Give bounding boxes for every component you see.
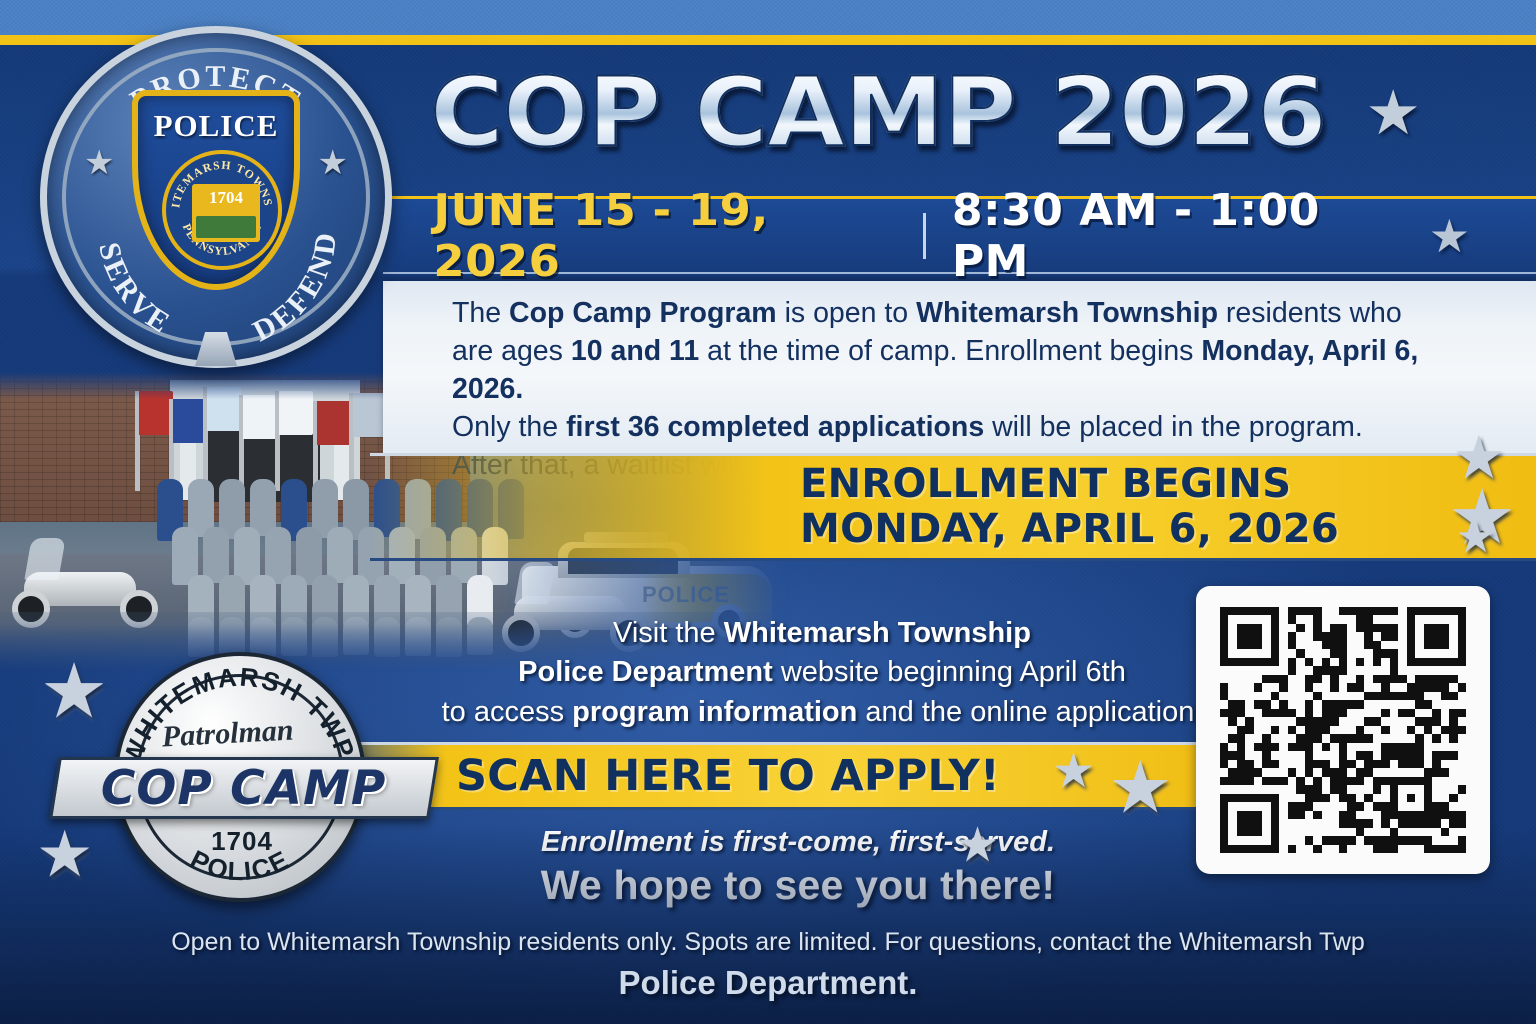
star-icon-scan-large: ★ xyxy=(1108,752,1173,824)
qr-code-matrix xyxy=(1220,607,1466,853)
enrollment-line-1: ENROLLMENT BEGINS xyxy=(800,462,1339,507)
star-icon-scan-small: ★ xyxy=(1052,748,1095,796)
visit-line-1: Visit the Whitemarsh Township xyxy=(420,614,1224,653)
desc-text: at the time of camp. Enrollment begins xyxy=(699,335,1201,367)
star-icon-left-lower: ★ xyxy=(36,822,93,886)
desc-text: residents who xyxy=(1218,297,1402,329)
qr-code[interactable] xyxy=(1196,586,1490,874)
visit-strong: program information xyxy=(572,696,857,728)
badge-police-label: POLICE xyxy=(138,108,294,144)
enrollment-line-2: MONDAY, APRIL 6, 2026 xyxy=(800,507,1339,552)
desc-strong: 10 and 11 xyxy=(571,335,699,367)
desc-text: is open to xyxy=(777,297,916,329)
camp-dates: JUNE 15 - 19, 2026 xyxy=(433,185,901,287)
camp-times: 8:30 AM - 1:00 PM xyxy=(952,185,1403,287)
desc-strong: Cop Camp Program xyxy=(509,297,777,329)
cop-camp-emblem: WHITEMARSH TWP. POLICE Patrolman 1704 CO… xyxy=(92,652,392,902)
desc-strong: first 36 completed applications xyxy=(566,411,984,443)
township-seal: WHITEMARSH TOWNSHIP PENNSYLVANIA 1704 xyxy=(162,150,282,270)
visit-line-3: to access program information and the on… xyxy=(420,693,1224,732)
desc-text: Only the xyxy=(452,411,566,443)
footer-line-1: Open to Whitemarsh Township residents on… xyxy=(0,928,1536,957)
page-title-text: COP CAMP 2026 xyxy=(430,66,1326,161)
title-star-icon: ★ xyxy=(1365,82,1420,144)
emblem-cop-camp-banner: COP CAMP xyxy=(49,757,439,819)
desc-text: are ages xyxy=(452,335,571,367)
visit-text: website beginning April 6th xyxy=(773,656,1126,688)
visit-text: to access xyxy=(442,696,573,728)
star-icon-fcfs: ★ xyxy=(956,822,999,870)
enrollment-begins-banner: ENROLLMENT BEGINS MONDAY, APRIL 6, 2026 xyxy=(370,453,1536,561)
visit-line-2: Police Department website beginning Apri… xyxy=(420,653,1224,692)
visit-strong: Police Department xyxy=(518,656,773,688)
description-line-2: are ages 10 and 11 at the time of camp. … xyxy=(452,333,1442,409)
description-line-1: The Cop Camp Program is open to Whitemar… xyxy=(452,295,1442,333)
badge-year: 1704 xyxy=(192,188,260,208)
scan-here-banner: SCAN HERE TO APPLY! xyxy=(338,742,1236,810)
visit-strong: Whitemarsh Township xyxy=(724,617,1031,649)
star-icon-left-upper: ★ xyxy=(40,654,108,730)
page-title: COP CAMP 2026 ★ xyxy=(430,58,1420,168)
emblem-year: 1704 xyxy=(114,826,370,857)
visit-website-text: Visit the Whitemarsh Township Police Dep… xyxy=(420,614,1224,732)
badge-star-right-icon: ★ xyxy=(318,146,348,180)
desc-strong: Whitemarsh Township xyxy=(916,297,1218,329)
emblem-cop-camp-label: COP CAMP xyxy=(101,761,386,816)
cop-camp-flyer: POLICE COP CAMP 2026 ★ JUNE 15 - 19, 202… xyxy=(0,0,1536,1024)
desc-text: The xyxy=(452,297,509,329)
datebar-star-icon: ★ xyxy=(1429,209,1470,263)
visit-text: and the online application. xyxy=(857,696,1202,728)
date-time-banner: JUNE 15 - 19, 2026 8:30 AM - 1:00 PM ★ xyxy=(383,196,1536,274)
description-line-3: Only the first 36 completed applications… xyxy=(452,409,1442,447)
scan-here-label: SCAN HERE TO APPLY! xyxy=(456,752,1000,800)
divider xyxy=(923,213,926,259)
visit-text: Visit the xyxy=(613,617,724,649)
police-badge-logo: PROTECT SERVE DEFEND ★ ★ POLICE WHITEM xyxy=(36,22,396,372)
desc-text: will be placed in the program. xyxy=(984,411,1363,443)
footer-line-2: Police Department. xyxy=(0,964,1536,1002)
badge-star-left-icon: ★ xyxy=(84,146,114,180)
star-icon-right-lower: ★ xyxy=(1456,516,1495,560)
township-crest: 1704 xyxy=(192,184,260,242)
